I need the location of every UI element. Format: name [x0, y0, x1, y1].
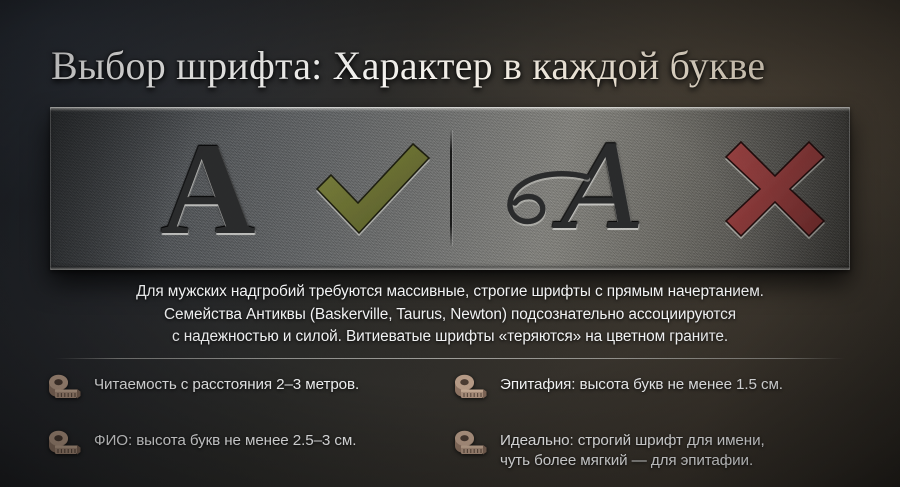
list-item-text: Идеально: строгий шрифт для имени, чуть … [500, 426, 765, 472]
script-letter: A [561, 121, 645, 256]
list-item-line: Читаемость с расстояния 2–3 метров. [94, 375, 359, 395]
tape-measure-icon [452, 430, 488, 462]
body-line-3: с надежностью и силой. Витиеватые шрифты… [50, 326, 850, 349]
tape-measure-icon [452, 374, 488, 406]
serif-capital-a-glyph: A [128, 107, 288, 278]
tape-measure-icon [46, 430, 82, 462]
list-item: Идеально: строгий шрифт для имени, чуть … [452, 426, 860, 472]
granite-plaque: A [50, 107, 850, 270]
plaque-divider [450, 130, 452, 246]
list-item: Эпитафия: высота букв не менее 1.5 см. [452, 370, 860, 410]
list-item-line: Эпитафия: высота букв не менее 1.5 см. [500, 375, 783, 395]
list-item-text: Читаемость с расстояния 2–3 метров. [94, 370, 359, 395]
cross-icon [700, 107, 850, 270]
check-icon [298, 107, 448, 270]
bullet-grid: Читаемость с расстояния 2–3 метров. [46, 370, 860, 472]
list-item-line: Идеально: строгий шрифт для имени, [500, 431, 765, 451]
body-paragraph: Для мужских надгробий требуются массивны… [50, 281, 850, 349]
body-line-1: Для мужских надгробий требуются массивны… [50, 281, 850, 304]
list-item-line: чуть более мягкий — для эпитафии. [500, 451, 765, 471]
script-capital-a-glyph: A [508, 107, 698, 276]
body-line-2: Семейства Антиквы (Baskerville, Taurus, … [50, 304, 850, 327]
section-divider [55, 358, 845, 359]
list-item-text: ФИО: высота букв не менее 2.5–3 см. [94, 426, 356, 451]
list-item-line: ФИО: высота букв не менее 2.5–3 см. [94, 431, 356, 451]
list-item-text: Эпитафия: высота букв не менее 1.5 см. [500, 370, 783, 395]
tape-measure-icon [46, 374, 82, 406]
infographic-slide: Выбор шрифта: Характер в каждой букве A [0, 0, 900, 487]
list-item: ФИО: высота букв не менее 2.5–3 см. [46, 426, 452, 472]
page-title: Выбор шрифта: Характер в каждой букве [51, 40, 851, 92]
list-item: Читаемость с расстояния 2–3 метров. [46, 370, 452, 410]
